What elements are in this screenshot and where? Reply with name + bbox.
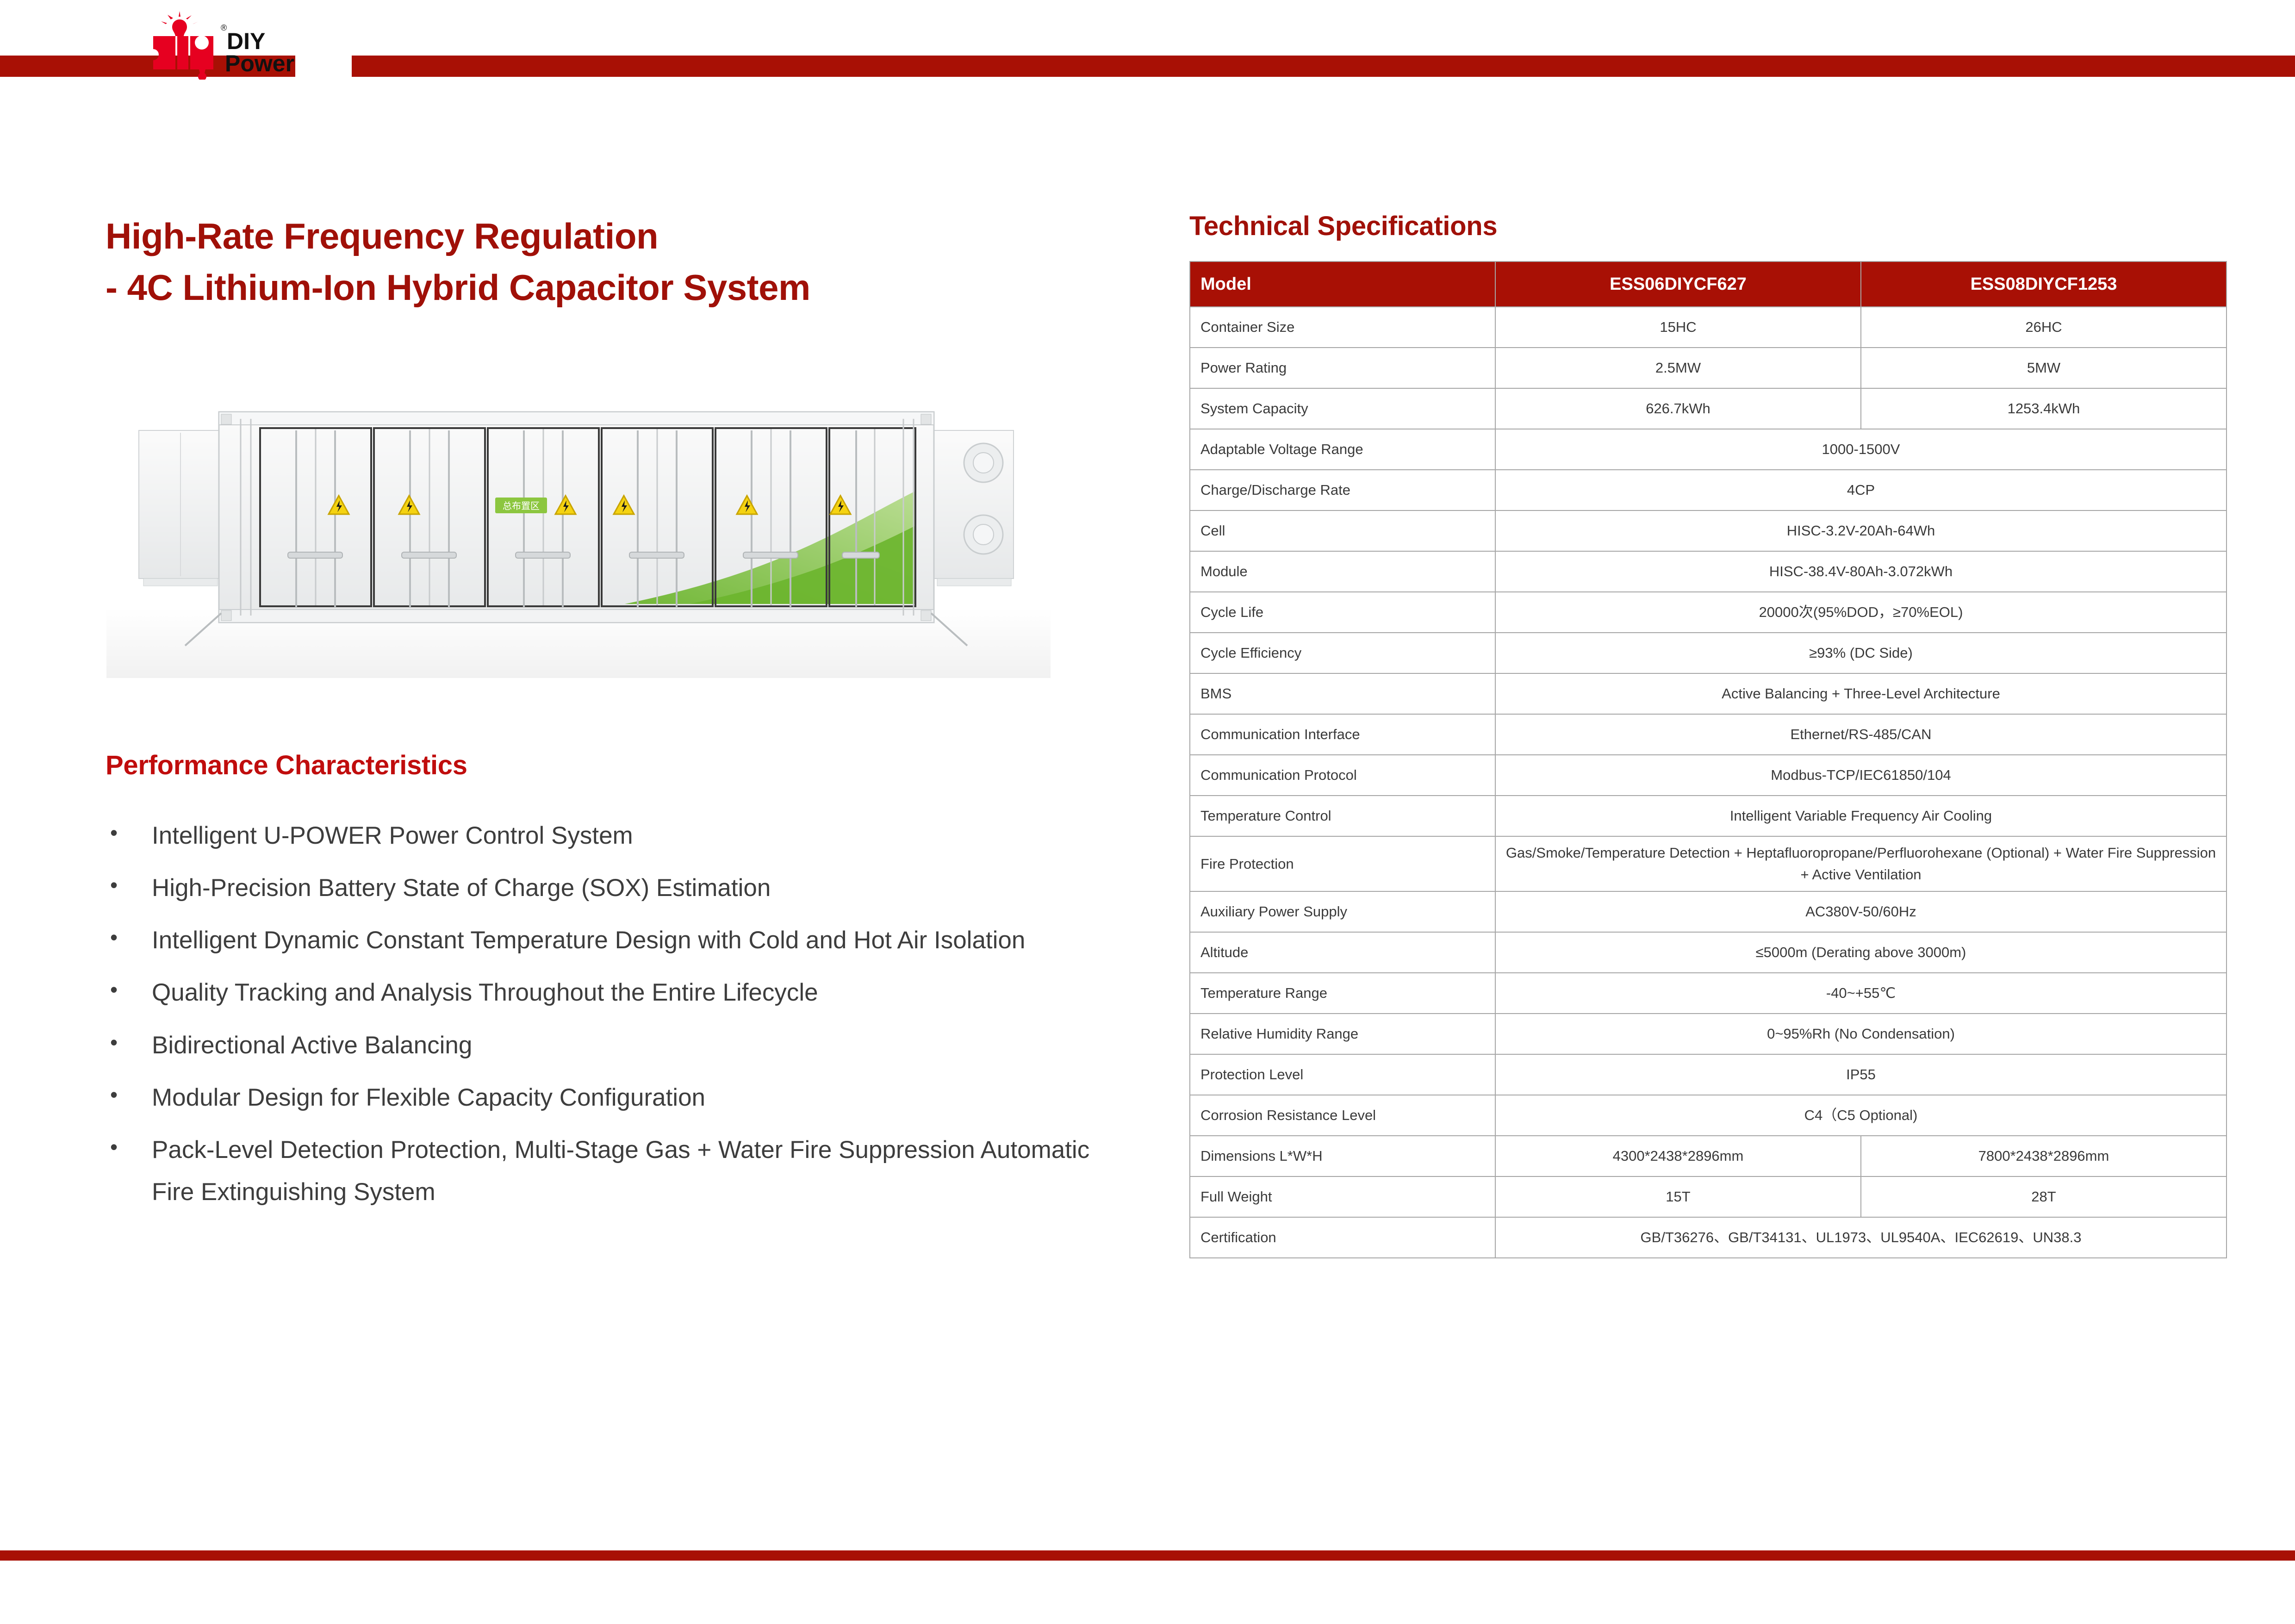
spec-value-cell-merged: HISC-38.4V-80Ah-3.072kWh [1495, 551, 2227, 592]
header-accent-bar-right [352, 56, 2295, 77]
spec-label-cell: Certification [1190, 1217, 1495, 1258]
table-row: Corrosion Resistance LevelC4（C5 Optional… [1190, 1095, 2227, 1136]
green-warning-sign: 总布置区 [495, 498, 547, 513]
spec-label-cell: Cycle Efficiency [1190, 633, 1495, 673]
table-row: Relative Humidity Range0~95%Rh (No Conde… [1190, 1014, 2227, 1054]
table-row: System Capacity626.7kWh1253.4kWh [1190, 388, 2227, 429]
spec-label-cell: Temperature Range [1190, 973, 1495, 1014]
spec-value-cell-a: 4300*2438*2896mm [1495, 1136, 1861, 1176]
table-row: Auxiliary Power SupplyAC380V-50/60Hz [1190, 891, 2227, 932]
spec-label-cell: System Capacity [1190, 388, 1495, 429]
spec-value-cell-b: 26HC [1861, 307, 2227, 348]
table-row: Adaptable Voltage Range1000-1500V [1190, 429, 2227, 470]
table-row: Full Weight15T28T [1190, 1176, 2227, 1217]
footer-accent-bar [0, 1550, 2295, 1561]
spec-value-cell-merged: Gas/Smoke/Temperature Detection + Heptaf… [1495, 836, 2227, 891]
spec-label-cell: Power Rating [1190, 348, 1495, 388]
table-header-row: Model ESS06DIYCF627 ESS08DIYCF1253 [1190, 261, 2227, 307]
container-right-wing-fans [933, 430, 1014, 586]
column-header-model-b: ESS08DIYCF1253 [1861, 261, 2227, 307]
spec-value-cell-merged: -40~+55℃ [1495, 973, 2227, 1014]
spec-value-cell-b: 28T [1861, 1176, 2227, 1217]
table-row: Cycle Life20000次(95%DOD，≥70%EOL) [1190, 592, 2227, 633]
brand-logo: ® DIY Power [134, 10, 333, 80]
table-row: Protection LevelIP55 [1190, 1054, 2227, 1095]
left-content-column: High-Rate Frequency Regulation - 4C Lith… [106, 211, 1119, 313]
bullet-text: Quality Tracking and Analysis Throughout… [152, 979, 818, 1006]
spec-value-cell-a: 15T [1495, 1176, 1861, 1217]
logo-wordmark-power: Power [225, 50, 294, 76]
logo-puzzle-shape [153, 36, 213, 80]
spec-label-cell: Auxiliary Power Supply [1190, 891, 1495, 932]
bullet-marker-icon: • [110, 1076, 118, 1113]
bullet-text: Modular Design for Flexible Capacity Con… [152, 1084, 705, 1111]
bullet-marker-icon: • [110, 919, 118, 956]
table-row: Temperature ControlIntelligent Variable … [1190, 796, 2227, 836]
spec-value-cell-merged: 20000次(95%DOD，≥70%EOL) [1495, 592, 2227, 633]
performance-characteristics-heading: Performance Characteristics [106, 750, 467, 781]
spec-value-cell-merged: IP55 [1495, 1054, 2227, 1095]
spec-value-cell-merged: HISC-3.2V-20Ah-64Wh [1495, 510, 2227, 551]
svg-text:®: ® [221, 23, 227, 32]
container-left-wing [139, 430, 220, 586]
product-image-container-bess: 总布置区 [88, 386, 1069, 687]
spec-value-cell-merged: Modbus-TCP/IEC61850/104 [1495, 755, 2227, 796]
spec-value-cell-merged: ≤5000m (Derating above 3000m) [1495, 932, 2227, 973]
table-row: Altitude≤5000m (Derating above 3000m) [1190, 932, 2227, 973]
table-row: CertificationGB/T36276、GB/T34131、UL1973、… [1190, 1217, 2227, 1258]
bullet-text: High-Precision Battery State of Charge (… [152, 874, 771, 902]
spec-value-cell-merged: AC380V-50/60Hz [1495, 891, 2227, 932]
spec-value-cell-b: 7800*2438*2896mm [1861, 1136, 2227, 1176]
spec-value-cell-merged: 1000-1500V [1495, 429, 2227, 470]
table-row: Power Rating2.5MW5MW [1190, 348, 2227, 388]
spec-value-cell-merged: 0~95%Rh (No Condensation) [1495, 1014, 2227, 1054]
logo-lightbulb-icon [161, 11, 198, 36]
spec-label-cell: Corrosion Resistance Level [1190, 1095, 1495, 1136]
spec-value-cell-b: 5MW [1861, 348, 2227, 388]
spec-value-cell-merged: ≥93% (DC Side) [1495, 633, 2227, 673]
column-header-model: Model [1190, 261, 1495, 307]
spec-value-cell-merged: Active Balancing + Three-Level Architect… [1495, 673, 2227, 714]
spec-value-cell-a: 2.5MW [1495, 348, 1861, 388]
spec-label-cell: Temperature Control [1190, 796, 1495, 836]
spec-label-cell: Charge/Discharge Rate [1190, 470, 1495, 510]
table-row: BMSActive Balancing + Three-Level Archit… [1190, 673, 2227, 714]
table-row: Charge/Discharge Rate4CP [1190, 470, 2227, 510]
spec-value-cell-merged: Intelligent Variable Frequency Air Cooli… [1495, 796, 2227, 836]
bullet-marker-icon: • [110, 1129, 118, 1165]
bullet-marker-icon: • [110, 971, 118, 1008]
spec-label-cell: Dimensions L*W*H [1190, 1136, 1495, 1176]
performance-bullet-item: •High-Precision Battery State of Charge … [106, 867, 1124, 909]
spec-label-cell: Altitude [1190, 932, 1495, 973]
spec-label-cell: Container Size [1190, 307, 1495, 348]
spec-value-cell-merged: C4（C5 Optional) [1495, 1095, 2227, 1136]
page-title: High-Rate Frequency Regulation - 4C Lith… [106, 211, 1119, 313]
table-row: Fire ProtectionGas/Smoke/Temperature Det… [1190, 836, 2227, 891]
column-header-model-a: ESS06DIYCF627 [1495, 261, 1861, 307]
spec-label-cell: Cycle Life [1190, 592, 1495, 633]
spec-label-cell: Adaptable Voltage Range [1190, 429, 1495, 470]
spec-label-cell: Fire Protection [1190, 836, 1495, 891]
spec-value-cell-merged: Ethernet/RS-485/CAN [1495, 714, 2227, 755]
bullet-text: Bidirectional Active Balancing [152, 1032, 472, 1059]
bullet-marker-icon: • [110, 867, 118, 903]
spec-label-cell: Relative Humidity Range [1190, 1014, 1495, 1054]
spec-label-cell: Module [1190, 551, 1495, 592]
bullet-text: Pack-Level Detection Protection, Multi-S… [152, 1136, 1089, 1206]
table-row: ModuleHISC-38.4V-80Ah-3.072kWh [1190, 551, 2227, 592]
bullet-marker-icon: • [110, 1024, 118, 1061]
performance-bullet-item: •Intelligent Dynamic Constant Temperatur… [106, 919, 1124, 961]
performance-bullet-list: •Intelligent U-POWER Power Control Syste… [106, 815, 1124, 1223]
technical-specifications-heading: Technical Specifications [1189, 211, 2226, 242]
technical-specifications-table: Model ESS06DIYCF627 ESS08DIYCF1253 Conta… [1189, 261, 2227, 1258]
table-row: Container Size15HC26HC [1190, 307, 2227, 348]
table-row: Communication InterfaceEthernet/RS-485/C… [1190, 714, 2227, 755]
bullet-text: Intelligent Dynamic Constant Temperature… [152, 927, 1025, 954]
table-row: Communication ProtocolModbus-TCP/IEC6185… [1190, 755, 2227, 796]
bullet-text: Intelligent U-POWER Power Control System [152, 822, 633, 849]
spec-value-cell-a: 626.7kWh [1495, 388, 1861, 429]
table-row: Cycle Efficiency≥93% (DC Side) [1190, 633, 2227, 673]
spec-label-cell: Protection Level [1190, 1054, 1495, 1095]
spec-label-cell: Communication Interface [1190, 714, 1495, 755]
performance-bullet-item: •Pack-Level Detection Protection, Multi-… [106, 1129, 1124, 1213]
spec-value-cell-merged: GB/T36276、GB/T34131、UL1973、UL9540A、IEC62… [1495, 1217, 2227, 1258]
bullet-marker-icon: • [110, 815, 118, 851]
spec-value-cell-b: 1253.4kWh [1861, 388, 2227, 429]
performance-bullet-item: •Modular Design for Flexible Capacity Co… [106, 1076, 1124, 1119]
spec-label-cell: BMS [1190, 673, 1495, 714]
right-content-column: Technical Specifications Model ESS06DIYC… [1189, 211, 2226, 1258]
table-row: CellHISC-3.2V-20Ah-64Wh [1190, 510, 2227, 551]
page-title-line-1: High-Rate Frequency Regulation [106, 211, 1119, 262]
performance-bullet-item: •Bidirectional Active Balancing [106, 1024, 1124, 1066]
spec-label-cell: Communication Protocol [1190, 755, 1495, 796]
spec-label-cell: Cell [1190, 510, 1495, 551]
spec-value-cell-a: 15HC [1495, 307, 1861, 348]
page-title-line-2: - 4C Lithium-Ion Hybrid Capacitor System [106, 262, 1119, 313]
table-row: Temperature Range-40~+55℃ [1190, 973, 2227, 1014]
svg-text:总布置区: 总布置区 [503, 501, 540, 511]
spec-label-cell: Full Weight [1190, 1176, 1495, 1217]
performance-bullet-item: •Intelligent U-POWER Power Control Syste… [106, 815, 1124, 857]
spec-value-cell-merged: 4CP [1495, 470, 2227, 510]
table-row: Dimensions L*W*H4300*2438*2896mm7800*243… [1190, 1136, 2227, 1176]
performance-bullet-item: •Quality Tracking and Analysis Throughou… [106, 971, 1124, 1014]
